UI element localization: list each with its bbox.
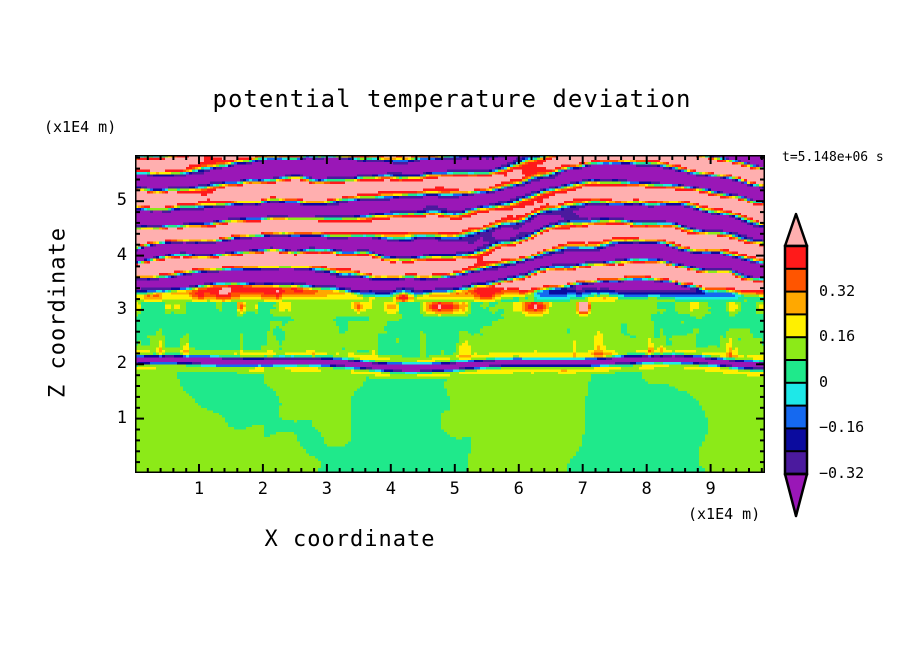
timestamp-annotation: t=5.148e+06 s xyxy=(782,150,884,165)
x-tick-label: 7 xyxy=(563,479,603,499)
x-tick-label: 3 xyxy=(307,479,347,499)
x-tick-label: 5 xyxy=(435,479,475,499)
chart-title: potential temperature deviation xyxy=(0,85,904,113)
y-tick-label: 2 xyxy=(101,353,127,373)
y-tick-label: 3 xyxy=(101,299,127,319)
colorbar-tick-label: −0.32 xyxy=(819,464,864,482)
x-tick-label: 1 xyxy=(179,479,219,499)
y-tick-label: 4 xyxy=(101,245,127,265)
x-tick-label: 2 xyxy=(243,479,283,499)
x-axis-label: X coordinate xyxy=(0,527,700,552)
x-tick-label: 9 xyxy=(691,479,731,499)
x-tick-label: 4 xyxy=(371,479,411,499)
colorbar-tick-label: 0.32 xyxy=(819,282,855,300)
x-axis-units-label: (x1E4 m) xyxy=(688,505,760,523)
y-axis-units-label: (x1E4 m) xyxy=(44,118,116,136)
y-axis-label: Z coordinate xyxy=(46,223,71,403)
y-tick-label: 5 xyxy=(101,190,127,210)
contour-field-svg xyxy=(135,155,765,473)
x-tick-label: 8 xyxy=(627,479,667,499)
colorbar-tick-label: 0 xyxy=(819,373,828,391)
y-tick-label: 1 xyxy=(101,408,127,428)
x-tick-label: 6 xyxy=(499,479,539,499)
colorbar-tick-label: 0.16 xyxy=(819,327,855,345)
colorbar-tick-label: −0.16 xyxy=(819,418,864,436)
colorbar: 0.320.160−0.16−0.32 xyxy=(779,210,899,522)
contour-plot-area: 12345678912345 xyxy=(135,155,765,473)
